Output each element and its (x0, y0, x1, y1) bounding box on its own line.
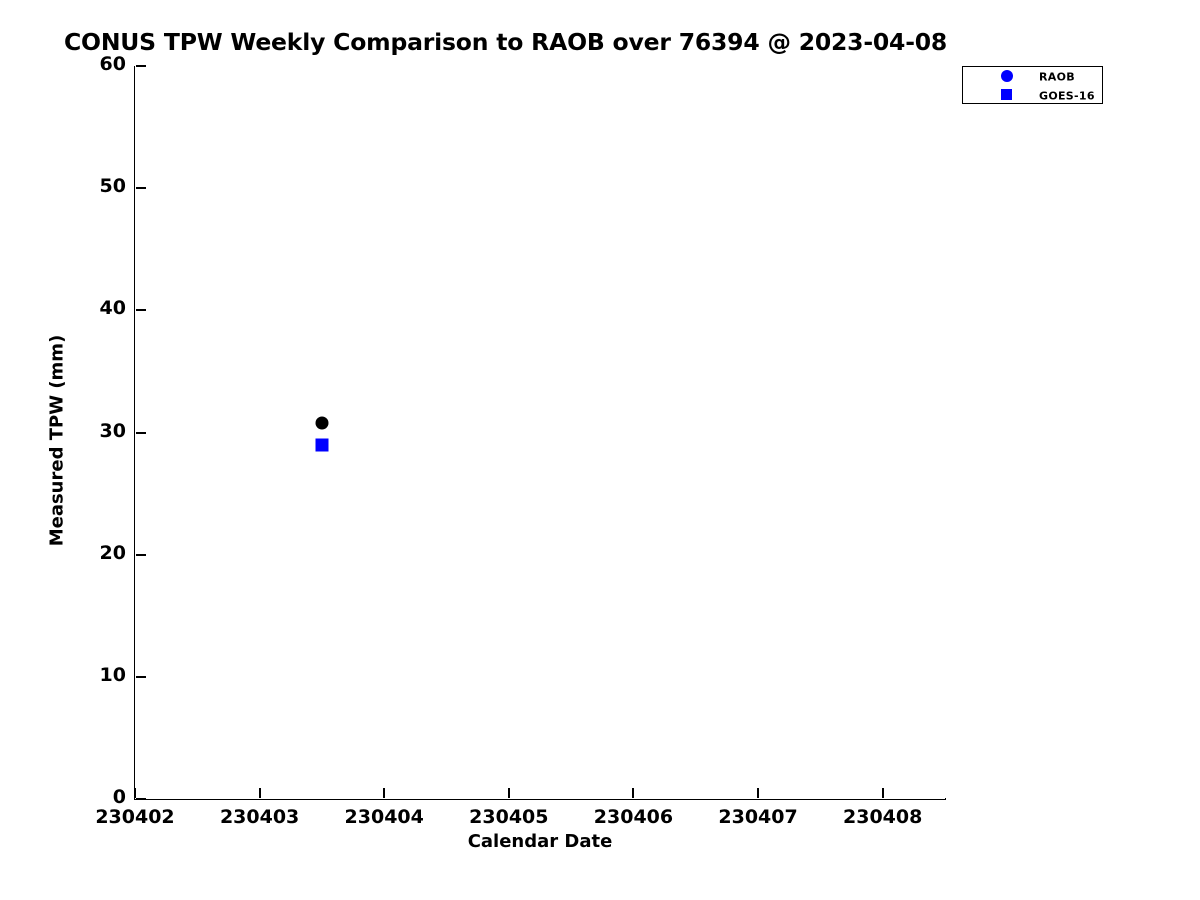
y-tick-mark (136, 187, 146, 189)
legend-label: GOES-16 (1039, 89, 1095, 102)
y-tick-mark (136, 798, 146, 800)
x-tick-mark (757, 788, 759, 798)
legend-item-raob: RAOB (963, 67, 1102, 86)
legend-marker (1001, 89, 1012, 100)
y-axis-label: Measured TPW (mm) (47, 121, 68, 761)
page-title: CONUS TPW Weekly Comparison to RAOB over… (64, 28, 947, 56)
x-tick-mark (508, 788, 510, 798)
plot-area (135, 66, 945, 799)
legend-item-goes-16: GOES-16 (963, 86, 1102, 105)
x-tick-label: 230406 (594, 806, 673, 828)
x-tick-label: 230403 (220, 806, 299, 828)
x-tick-label: 230402 (95, 806, 174, 828)
y-tick-mark (136, 65, 146, 67)
x-tick-mark (383, 788, 385, 798)
legend-circle-icon (1001, 70, 1015, 84)
y-tick-label: 50 (60, 175, 126, 197)
y-tick-label: 0 (60, 786, 126, 808)
legend-label: RAOB (1039, 70, 1075, 83)
x-tick-label: 230404 (345, 806, 424, 828)
y-tick-label: 60 (60, 53, 126, 75)
y-tick-mark (136, 554, 146, 556)
y-tick-label: 40 (60, 297, 126, 319)
legend-square-icon (1001, 89, 1015, 103)
x-tick-label: 230408 (843, 806, 922, 828)
chart-figure: CONUS TPW Weekly Comparison to RAOB over… (0, 0, 1200, 900)
legend-marker (1001, 70, 1013, 82)
data-point-goes-16 (315, 438, 328, 451)
x-tick-mark (134, 788, 136, 798)
y-tick-mark (136, 432, 146, 434)
chart-legend: RAOBGOES-16 (962, 66, 1103, 104)
x-tick-label: 230405 (469, 806, 548, 828)
x-tick-mark (632, 788, 634, 798)
y-tick-label: 20 (60, 542, 126, 564)
y-tick-label: 10 (60, 664, 126, 686)
y-tick-mark (136, 309, 146, 311)
x-tick-mark (882, 788, 884, 798)
data-point-raob (315, 416, 328, 429)
x-axis-label: Calendar Date (0, 831, 1080, 852)
x-tick-label: 230407 (718, 806, 797, 828)
x-tick-mark (259, 788, 261, 798)
y-tick-label: 30 (60, 420, 126, 442)
y-tick-mark (136, 676, 146, 678)
